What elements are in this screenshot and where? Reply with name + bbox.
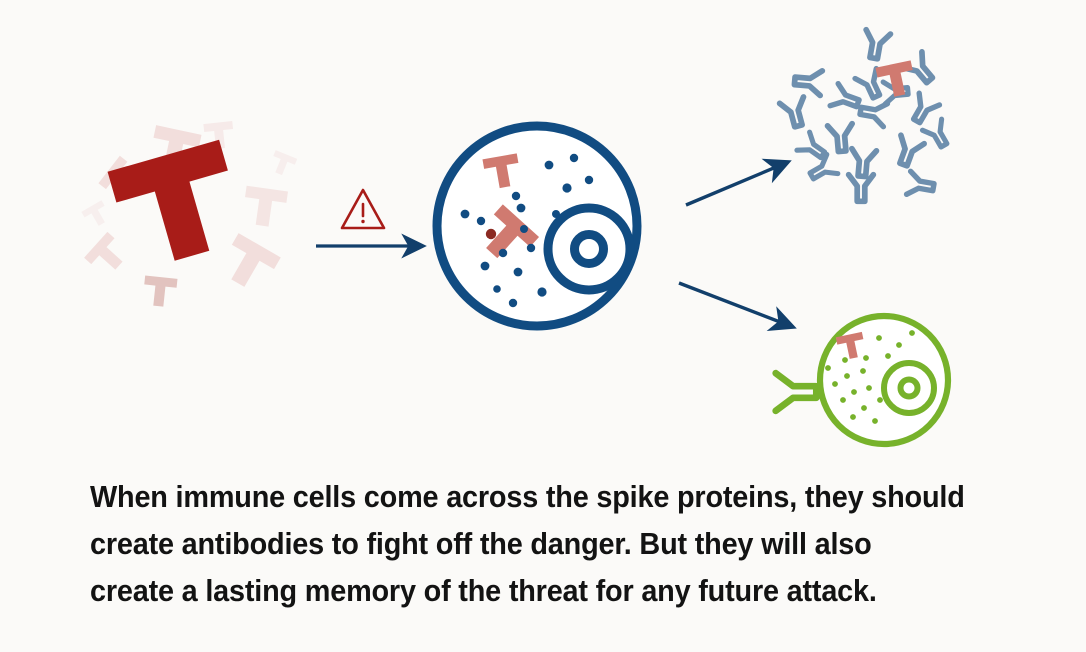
caption-block: When immune cells come across the spike … <box>90 473 1030 614</box>
caption-line-2: create antibodies to fight off the dange… <box>90 520 964 567</box>
antibody-icon <box>907 93 940 127</box>
antibody-icon <box>830 84 862 115</box>
spike-protein-faded-icon <box>241 186 288 229</box>
illustration-page: When immune cells come across the spike … <box>0 0 1086 652</box>
spike-protein-cluster <box>81 121 297 308</box>
immune-cell <box>437 126 637 326</box>
warning-triangle-icon <box>342 190 384 228</box>
antibody-icon <box>794 69 823 96</box>
arrow-cell-to-memory <box>679 283 793 327</box>
memory-cell <box>776 316 948 444</box>
spike-protein-faded-icon <box>84 232 130 279</box>
caption-line-1: When immune cells come across the spike … <box>90 473 964 520</box>
caption-line-3: create a lasting memory of the threat fo… <box>90 567 964 614</box>
antibody-icon <box>922 119 953 151</box>
immune-cell-nucleus <box>548 208 630 290</box>
spike-protein-faded-icon <box>81 200 111 230</box>
antibody-icon <box>780 97 811 129</box>
immune-response-diagram <box>0 0 1086 460</box>
spike-protein-main-icon <box>108 140 248 272</box>
antibody-icon <box>892 135 924 168</box>
memory-cell-receptor-icon <box>776 373 817 411</box>
arrow-cell-to-antibodies <box>686 162 788 205</box>
spike-protein-faded-icon <box>268 150 297 178</box>
antibody-icon <box>907 171 936 198</box>
memory-cell-nucleus <box>884 363 934 413</box>
antibody-swarm <box>780 30 954 202</box>
spike-protein-faded-icon <box>217 233 281 295</box>
spike-protein-faded-icon <box>142 275 177 307</box>
antibody-icon <box>862 30 891 60</box>
